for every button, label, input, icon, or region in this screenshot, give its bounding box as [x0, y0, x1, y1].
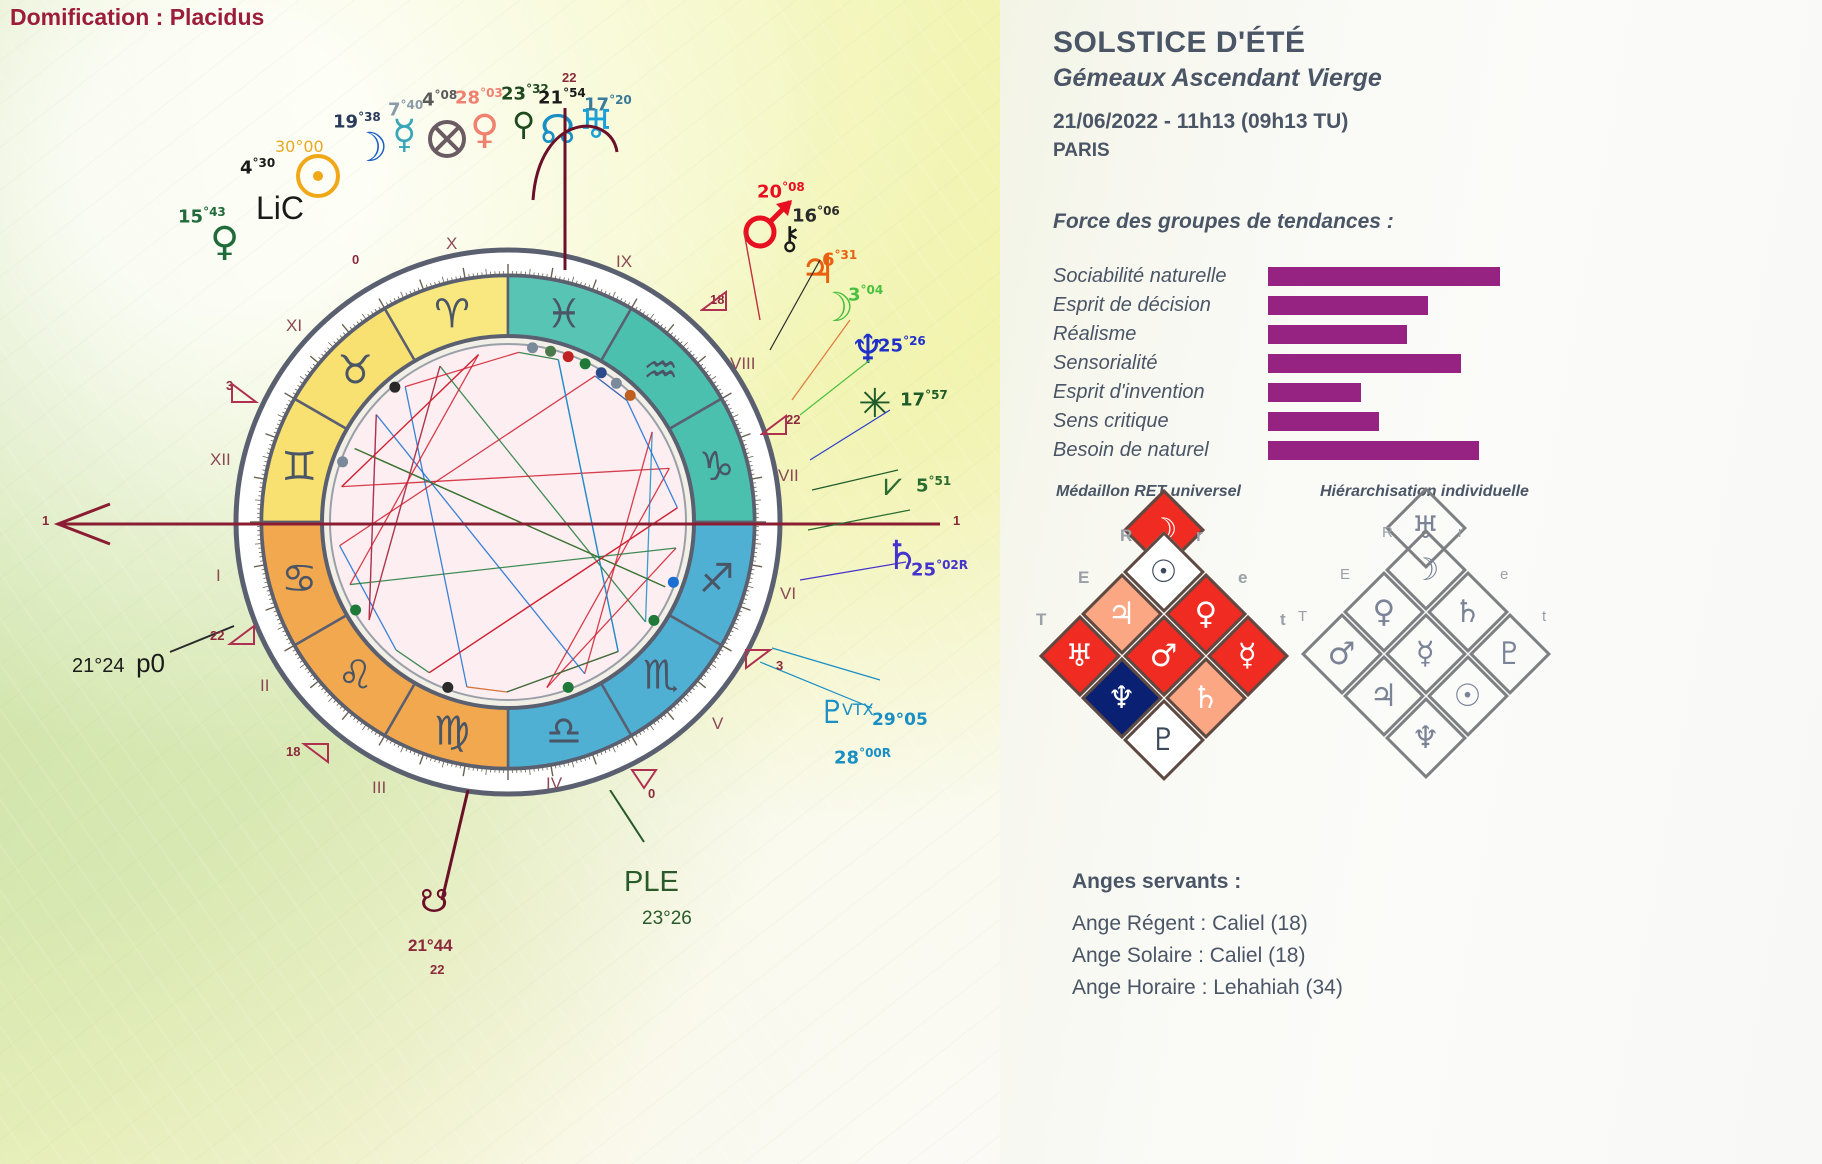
sign-glyph-0: ♊ [281, 444, 317, 490]
jupiter-icon: ♃ [1370, 680, 1398, 711]
tendency-bar-track [1268, 407, 1523, 436]
venus-icon: ♀ [1373, 597, 1396, 628]
medallion-ret-grid[interactable]: ☽☉♃♀♅♂☿♆♄♇RrEeTt [1058, 520, 1308, 820]
axis-letter-r: r [1458, 524, 1463, 541]
axis-letter-t: t [1542, 608, 1546, 625]
planet-dot[interactable] [389, 382, 400, 393]
house-marker-18a: 18 [286, 744, 300, 759]
tendency-bar-fill [1268, 441, 1479, 460]
sign-glyph-10: ♌ [337, 653, 373, 699]
planet-dot[interactable] [625, 390, 636, 401]
planet-dot[interactable] [668, 577, 679, 588]
p0-value: 21°24 [72, 655, 125, 677]
mercury-icon: ☿ [1416, 639, 1435, 670]
neptune-icon: ♆ [1108, 682, 1136, 713]
triangle-marker-3 [300, 740, 330, 766]
house-marker-22a: 22 [210, 628, 224, 643]
tendency-row: Sensorialité [1053, 349, 1523, 378]
planet-dot[interactable] [580, 358, 591, 369]
tendency-label: Sens critique [1053, 410, 1268, 433]
tendency-bar-track [1268, 262, 1523, 291]
tendency-bar-fill [1268, 296, 1428, 315]
jupiter-icon: ♃ [1108, 598, 1136, 629]
neptune-icon: ♆ [1412, 722, 1440, 753]
tendency-row: Réalisme [1053, 320, 1523, 349]
axis-letter-e: e [1500, 566, 1508, 583]
tendency-label: Réalisme [1053, 323, 1268, 346]
page-title: SOLSTICE D'ÉTÉ [1053, 26, 1306, 60]
south-node-icon: ☋ [420, 885, 448, 917]
ann-fortune: 4°08 [422, 88, 457, 110]
pluto-icon: ♇ [1496, 638, 1524, 669]
tendency-label: Esprit d'invention [1053, 381, 1268, 404]
triangle-marker-6 [630, 766, 660, 792]
planet-dot[interactable] [527, 342, 538, 353]
sun-icon [294, 152, 342, 200]
mercury-icon: ☿ [392, 115, 417, 155]
tendency-bar-track [1268, 320, 1523, 349]
ple-leader [600, 790, 680, 850]
house-numeral-I: I [216, 566, 221, 586]
tendency-bar-fill [1268, 267, 1500, 286]
ange-solaire: Ange Solaire : Caliel (18) [1072, 944, 1305, 968]
tendency-label: Besoin de naturel [1053, 439, 1268, 462]
sign-glyph-7: ♏ [643, 653, 679, 699]
node-tail [420, 790, 510, 950]
sun-icon: ☉ [1454, 680, 1482, 711]
house-numeral-II: II [260, 676, 269, 696]
triangle-marker-7 [700, 288, 730, 314]
mercury-icon: ☿ [1238, 641, 1257, 672]
house-numeral-VIII: VIII [730, 354, 756, 374]
ann-sun: 4°30 [240, 156, 275, 178]
pluto-icon: ♇ [1150, 724, 1178, 755]
sign-glyph-4: ♒ [643, 347, 679, 393]
tendency-row: Besoin de naturel [1053, 436, 1523, 465]
part-of-fortune-icon [426, 118, 468, 160]
tendency-bar-fill [1268, 412, 1379, 431]
house-numeral-X: X [446, 234, 457, 254]
tendency-bar-fill [1268, 325, 1407, 344]
triangle-marker-2 [226, 622, 256, 648]
tendency-bar-chart: Sociabilité naturelleEsprit de décisionR… [1053, 262, 1523, 465]
sign-glyph-1: ♉ [337, 347, 373, 393]
axis-letter-E: E [1340, 566, 1350, 583]
tendency-bar-fill [1268, 383, 1361, 402]
house-marker-3b: 3 [776, 658, 783, 673]
house-numeral-III: III [372, 778, 386, 798]
tendency-row: Sociabilité naturelle [1053, 262, 1523, 291]
tendency-bar-fill [1268, 354, 1461, 373]
ple-value: 23°26 [642, 908, 692, 930]
axis-letter-E: E [1078, 568, 1089, 588]
domification-label: Domification : Placidus [10, 4, 264, 31]
p0-label: p0 [136, 648, 165, 678]
axis-letter-T: T [1298, 608, 1307, 625]
medallion-caption: Médaillon RET universel [1056, 483, 1241, 501]
force-section-title: Force des groupes de tendances : [1053, 210, 1394, 234]
venus-icon: ♀ [1195, 599, 1218, 630]
city-label: PARIS [1053, 140, 1110, 162]
ange-horaire: Ange Horaire : Lehahiah (34) [1072, 976, 1343, 1000]
sign-glyph-11: ♋ [281, 556, 317, 602]
node-value: 21°44 [408, 936, 453, 956]
tendency-row: Sens critique [1053, 407, 1523, 436]
sign-glyph-3: ♓ [546, 291, 582, 337]
house-numeral-VII: VII [778, 466, 799, 486]
asc-label-left: 1 [42, 513, 49, 528]
asc-label-right: 1 [953, 513, 960, 528]
planet-dot[interactable] [648, 615, 659, 626]
ann-venus-pink: 28°03 [455, 86, 503, 108]
planet-dot[interactable] [545, 346, 556, 357]
uranus-icon: ♅ [1066, 640, 1094, 671]
planet-dot[interactable] [442, 682, 453, 693]
saturn-icon: ♄ [1192, 682, 1220, 713]
moon-icon: ☽ [352, 128, 388, 168]
tendency-bar-track [1268, 436, 1523, 465]
mars-icon: ♂ [1328, 638, 1356, 669]
planet-dot[interactable] [337, 456, 348, 467]
triangle-marker-1 [230, 380, 260, 406]
tendency-bar-track [1268, 349, 1523, 378]
tendency-row: Esprit d'invention [1053, 378, 1523, 407]
axis-letter-r: r [1196, 526, 1203, 546]
planet-dot[interactable] [563, 682, 574, 693]
planet-dot[interactable] [563, 351, 574, 362]
tendency-bar-track [1268, 291, 1523, 320]
tendency-bar-track [1268, 378, 1523, 407]
triangle-marker-4 [760, 412, 790, 438]
sign-glyph-9: ♍ [434, 709, 470, 755]
axis-letter-R: R [1120, 526, 1132, 546]
planet-dot[interactable] [611, 378, 622, 389]
tendency-label: Sociabilité naturelle [1053, 265, 1268, 288]
house-marker-0c: 0 [352, 252, 359, 267]
tendency-label: Sensorialité [1053, 352, 1268, 375]
datetime-label: 21/06/2022 - 11h13 (09h13 TU) [1053, 110, 1348, 134]
tendency-label: Esprit de décision [1053, 294, 1268, 317]
sign-glyph-2: ♈ [434, 291, 470, 337]
page-subtitle: Gémeaux Ascendant Vierge [1053, 64, 1382, 93]
node-house: 22 [430, 962, 444, 977]
anges-section-title: Anges servants : [1072, 870, 1241, 894]
ange-regent: Ange Régent : Caliel (18) [1072, 912, 1308, 936]
moon-icon: ☽ [1412, 554, 1440, 585]
hierarchy-grid[interactable]: ♅☽♀♄♂☿♇♃☉♆RrEeTt [1320, 518, 1570, 818]
sun-icon: ☉ [1150, 556, 1178, 587]
ple-label: PLE [624, 866, 679, 899]
sign-glyph-8: ♎ [546, 709, 582, 755]
house-numeral-XII: XII [210, 450, 231, 470]
house-numeral-IV: IV [546, 774, 562, 794]
venus-pink-icon: ♀ [470, 110, 499, 150]
house-numeral-IX: IX [616, 252, 632, 272]
tendency-row: Esprit de décision [1053, 291, 1523, 320]
mars-icon: ♂ [1150, 640, 1178, 671]
venus-green-icon: ♀ [210, 222, 239, 262]
planet-dot[interactable] [596, 367, 607, 378]
ann-node-house: 22 [562, 70, 576, 85]
house-numeral-V: V [712, 714, 723, 734]
saturn-icon: ♄ [1454, 596, 1482, 627]
house-numeral-XI: XI [286, 316, 302, 336]
triangle-marker-5 [744, 646, 774, 672]
axis-letter-R: R [1382, 524, 1393, 541]
axis-letter-t: t [1280, 610, 1286, 630]
planet-dot[interactable] [350, 605, 361, 616]
axis-letter-T: T [1036, 610, 1046, 630]
house-numeral-VI: VI [780, 584, 796, 604]
right-leader-lines [700, 200, 950, 760]
axis-letter-e: e [1238, 568, 1247, 588]
p0-annotation: 21°24 p0 [72, 648, 165, 679]
